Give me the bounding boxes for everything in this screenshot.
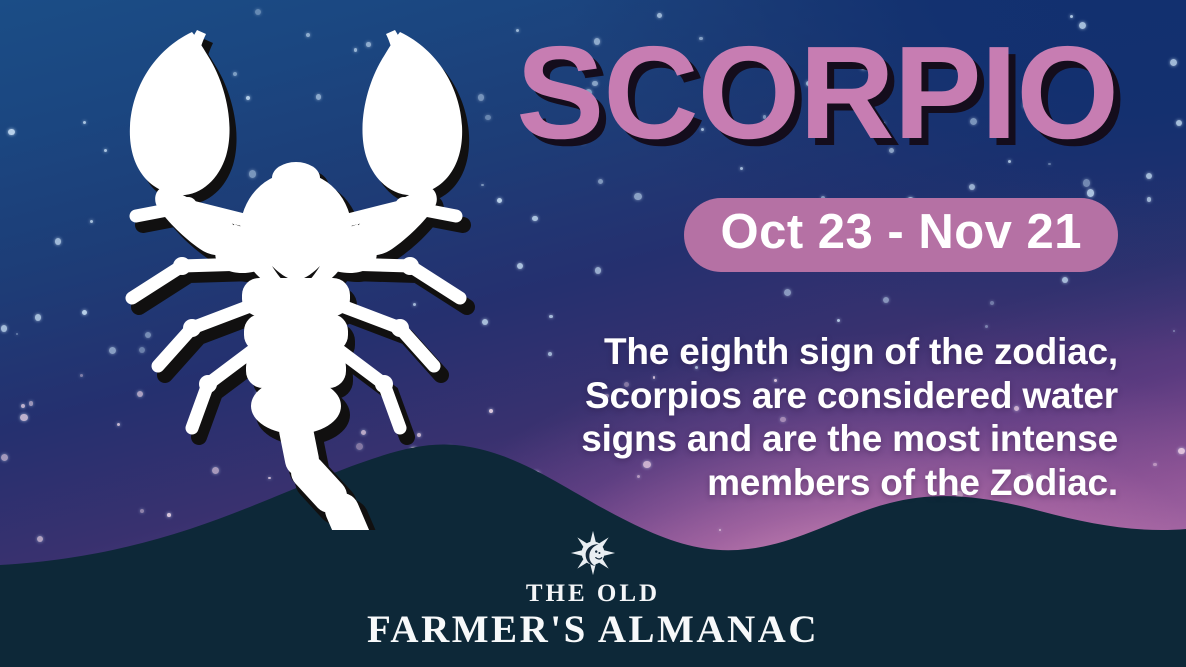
star-dot	[83, 121, 86, 124]
star-dot	[55, 238, 62, 245]
star-dot	[29, 401, 34, 406]
poster-text-column: SCORPIO Oct 23 - Nov 21 The eighth sign …	[515, 0, 1140, 530]
description-line: signs and are the most intense	[518, 417, 1118, 461]
star-dot	[1170, 59, 1177, 66]
description-line: The eighth sign of the zodiac,	[518, 330, 1118, 374]
star-dot	[16, 333, 19, 336]
description-line: members of the Zodiac.	[518, 461, 1118, 505]
star-dot	[1176, 120, 1182, 126]
star-dot	[1146, 173, 1152, 179]
zodiac-poster: SCORPIO Oct 23 - Nov 21 The eighth sign …	[0, 0, 1186, 667]
star-dot	[82, 310, 87, 315]
star-dot	[1173, 330, 1176, 333]
star-dot	[20, 414, 27, 421]
brand-lockup: THE OLD FARMER'S ALMANAC	[0, 530, 1186, 653]
brand-tagline: THE OLD	[526, 580, 660, 608]
brand-name: FARMER'S ALMANAC	[367, 608, 819, 653]
description-line: Scorpios are considered water	[518, 374, 1118, 418]
star-dot	[35, 314, 42, 321]
description-text: The eighth sign of the zodiac, Scorpios …	[518, 330, 1118, 505]
star-dot	[21, 404, 26, 409]
sun-moon-face-icon	[570, 530, 616, 576]
star-dot	[80, 374, 83, 377]
scorpion-illustration	[96, 10, 496, 530]
star-dot	[497, 198, 502, 203]
page-title: SCORPIO	[516, 30, 1118, 155]
star-dot	[8, 129, 14, 135]
star-dot	[90, 220, 94, 224]
star-dot	[1147, 197, 1151, 201]
date-range-badge: Oct 23 - Nov 21	[684, 198, 1118, 272]
star-dot	[1, 325, 7, 331]
